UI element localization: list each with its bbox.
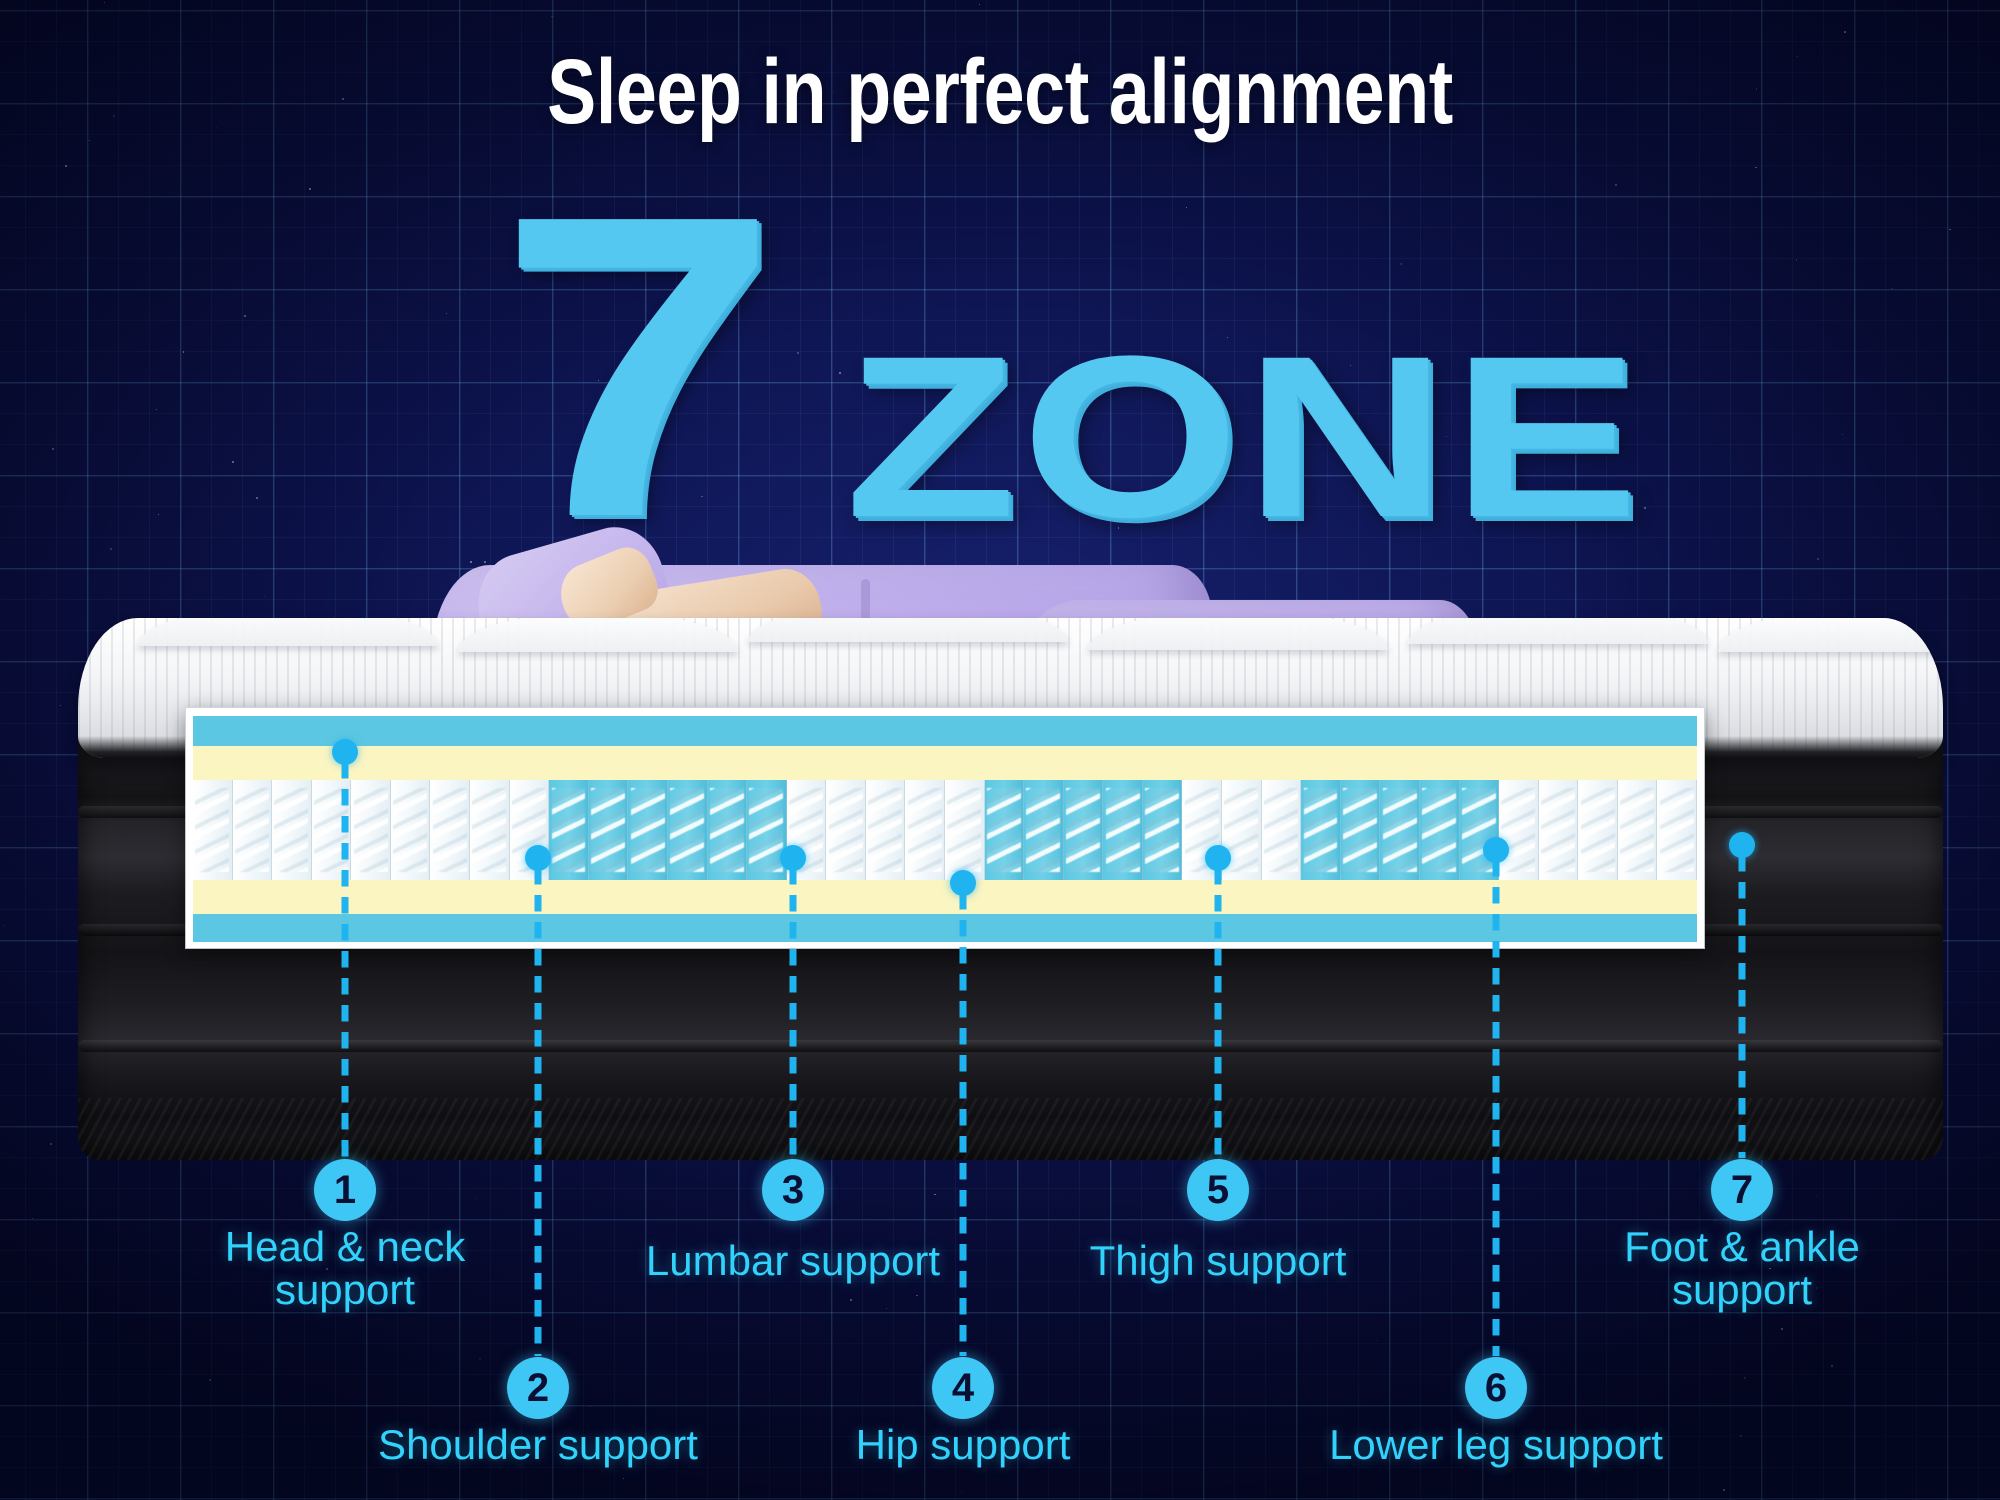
zone-label-5: Thigh support <box>1090 1240 1347 1283</box>
pocket-spring <box>272 780 312 880</box>
spring-coil-icon <box>1620 788 1654 872</box>
pocket-spring <box>233 780 273 880</box>
zone-label-4: Hip support <box>856 1424 1071 1467</box>
spring-coil-icon <box>1541 788 1575 872</box>
star <box>110 548 112 550</box>
star <box>1844 31 1846 33</box>
star <box>479 1358 481 1360</box>
star <box>156 409 157 410</box>
pocket-spring <box>1420 780 1460 880</box>
star <box>3 925 4 926</box>
star <box>1186 207 1187 208</box>
spring-coil-icon <box>1066 788 1100 872</box>
zone-badge-7[interactable]: 7 <box>1711 1159 1773 1221</box>
spring-coil-icon <box>1581 788 1615 872</box>
spring-coil-icon <box>1343 788 1377 872</box>
spring-coil-icon <box>749 788 783 872</box>
spring-coil-icon <box>472 788 506 872</box>
pocket-spring <box>193 780 233 880</box>
star <box>484 561 486 563</box>
spring-coil-icon <box>987 788 1021 872</box>
pocket-spring <box>826 780 866 880</box>
spring-coil-icon <box>947 788 981 872</box>
layer-memory-foam-top <box>193 746 1697 780</box>
pocket-spring <box>1341 780 1381 880</box>
star <box>1831 1365 1833 1367</box>
spring-coil-icon <box>393 788 427 872</box>
spring-coil-icon <box>195 788 229 872</box>
star <box>264 596 265 597</box>
zone-badge-6[interactable]: 6 <box>1465 1357 1527 1419</box>
zone-leader-line-icon <box>1215 868 1222 1158</box>
star <box>1740 1435 1742 1437</box>
pocket-spring <box>1499 780 1539 880</box>
star <box>256 497 258 499</box>
pocket-spring <box>1143 780 1183 880</box>
pocket-spring <box>391 780 431 880</box>
spring-coil-icon <box>908 788 942 872</box>
pocket-spring <box>1262 780 1302 880</box>
zone-badge-3[interactable]: 3 <box>762 1159 824 1221</box>
layer-comfort-foam-base <box>193 914 1697 942</box>
spring-coil-icon <box>670 788 704 872</box>
layer-memory-foam-base <box>193 880 1697 914</box>
star <box>1376 1340 1377 1341</box>
spring-coil-icon <box>868 788 902 872</box>
star <box>183 351 184 352</box>
star <box>839 372 841 374</box>
pocket-spring <box>945 780 985 880</box>
pocket-spring <box>1301 780 1341 880</box>
spring-coil-icon <box>1264 788 1298 872</box>
pocket-spring <box>866 780 906 880</box>
zone-leader-line-icon <box>1739 855 1746 1158</box>
star <box>1227 337 1228 338</box>
pocket-spring <box>985 780 1025 880</box>
spring-coil-icon <box>1304 788 1338 872</box>
star <box>1400 263 1402 265</box>
star <box>464 293 465 294</box>
star <box>1644 507 1646 509</box>
pocket-spring <box>1103 780 1143 880</box>
spring-coil-icon <box>1422 788 1456 872</box>
star <box>52 448 54 450</box>
pocket-spring <box>430 780 470 880</box>
pocket-spring <box>668 780 708 880</box>
pocket-spring <box>708 780 748 880</box>
mattress <box>78 690 1943 1170</box>
star <box>309 188 311 190</box>
spring-coil-icon <box>710 788 744 872</box>
star <box>89 140 90 141</box>
zone-leader-line-icon <box>790 868 797 1158</box>
zone-label-3: Lumbar support <box>646 1240 940 1283</box>
layer-comfort-foam-top <box>193 716 1697 746</box>
spring-coil-icon <box>1106 788 1140 872</box>
star <box>1065 494 1067 496</box>
pocket-spring <box>747 780 787 880</box>
star <box>961 1491 962 1492</box>
zone-label-1: Head & neck support <box>225 1226 465 1312</box>
spring-coil-icon <box>354 788 388 872</box>
zone-label-7: Foot & ankle support <box>1624 1226 1860 1312</box>
spring-coil-icon <box>1145 788 1179 872</box>
pocket-spring <box>1618 780 1658 880</box>
zone-leader-line-icon <box>1493 860 1500 1356</box>
star <box>1744 1377 1746 1379</box>
pocket-spring <box>1657 780 1697 880</box>
spring-coil-icon <box>1383 788 1417 872</box>
star <box>1723 1489 1725 1491</box>
zone-badge-4[interactable]: 4 <box>932 1357 994 1419</box>
spring-coil-icon <box>433 788 467 872</box>
spring-coil-icon <box>1660 788 1694 872</box>
pocket-spring <box>470 780 510 880</box>
spring-coil-icon <box>829 788 863 872</box>
zone-leader-line-icon <box>342 762 349 1158</box>
star <box>797 352 799 354</box>
pocket-spring <box>351 780 391 880</box>
star <box>60 705 61 706</box>
pocket-spring <box>1064 780 1104 880</box>
layer-pocket-spring-core <box>193 780 1697 880</box>
infographic-canvas: Sleep in perfect alignment 7 ZONE <box>0 0 2000 1500</box>
zone-label-2: Shoulder support <box>378 1424 698 1467</box>
star <box>590 1406 591 1407</box>
spring-coil-icon <box>1501 788 1535 872</box>
zone-badge-2[interactable]: 2 <box>507 1357 569 1419</box>
zone-badge-5[interactable]: 5 <box>1187 1159 1249 1221</box>
mattress-cutaway <box>186 708 1704 948</box>
star <box>1350 365 1351 366</box>
zone-badge-1[interactable]: 1 <box>314 1159 376 1221</box>
pocket-spring <box>589 780 629 880</box>
zone-leader-line-icon <box>535 868 542 1356</box>
spring-coil-icon <box>1026 788 1060 872</box>
pocket-spring <box>1578 780 1618 880</box>
spring-coil-icon <box>235 788 269 872</box>
pocket-spring <box>549 780 589 880</box>
spring-coil-icon <box>274 788 308 872</box>
spring-coil-icon <box>631 788 665 872</box>
page-title: Sleep in perfect alignment <box>200 46 1800 138</box>
star <box>814 230 815 231</box>
pocket-spring <box>1024 780 1064 880</box>
pocket-spring <box>1539 780 1579 880</box>
zone-label-6: Lower leg support <box>1329 1424 1663 1467</box>
star <box>244 315 245 316</box>
zone-leader-line-icon <box>960 893 967 1356</box>
star <box>1781 1328 1783 1330</box>
pocket-spring <box>905 780 945 880</box>
spring-coil-icon <box>591 788 625 872</box>
pocket-spring <box>1380 780 1420 880</box>
spring-coil-icon <box>552 788 586 872</box>
pocket-spring <box>628 780 668 880</box>
star <box>1842 434 1843 435</box>
star <box>65 165 66 166</box>
